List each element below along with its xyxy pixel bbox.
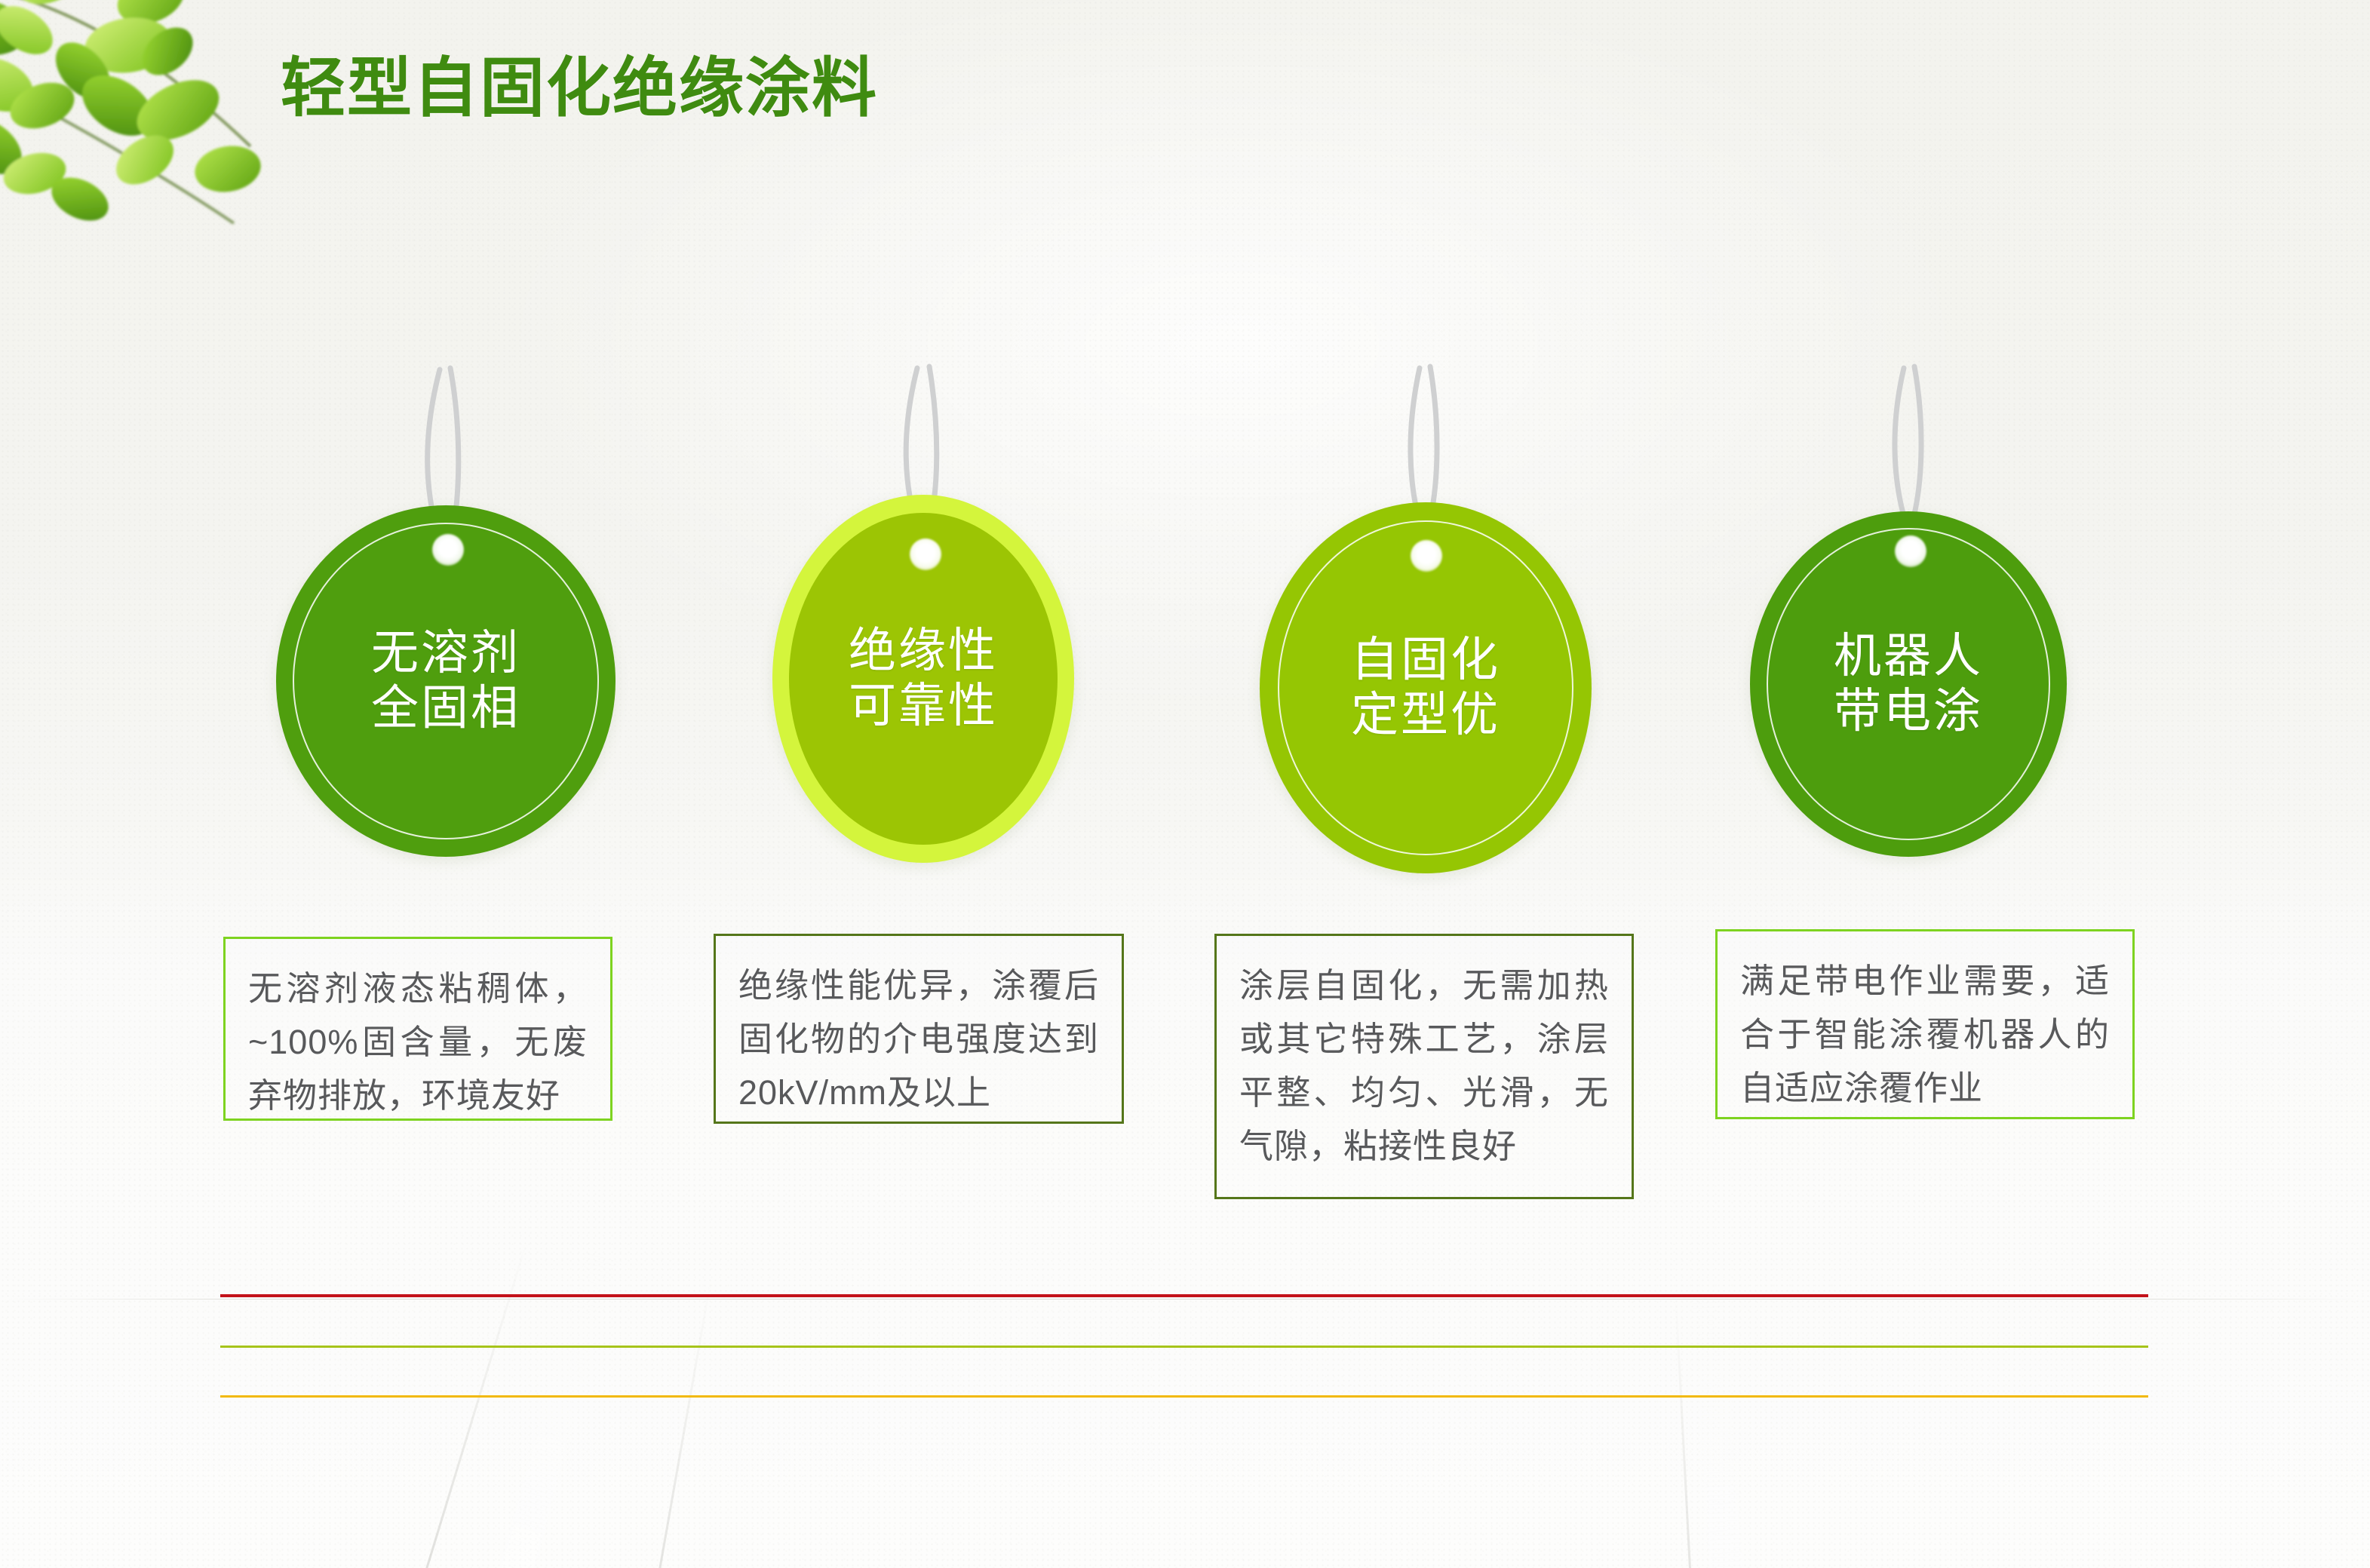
floor-shine-2	[179, 1250, 619, 1568]
tag-disc-2[interactable]: 绝缘性 可靠性	[772, 495, 1074, 863]
horizon-line	[0, 1299, 2370, 1300]
note-box-2: 绝缘性能优异，涂覆后固化物的介电强度达到20kV/mm及以上	[714, 934, 1124, 1124]
tag-label-3: 自固化 定型优	[1351, 633, 1500, 743]
note-box-1: 无溶剂液态粘稠体，~100%固含量，无废弃物排放，环境友好	[223, 937, 612, 1121]
tag-label-2: 绝缘性 可靠性	[849, 624, 998, 734]
tag-hole-2	[910, 539, 941, 570]
green-leaves-decoration	[0, 0, 272, 244]
tag-hole-1	[432, 534, 464, 566]
floor-line-2	[67, 1241, 528, 1568]
rule-red	[220, 1294, 2148, 1297]
note-box-3: 涂层自固化，无需加热或其它特殊工艺，涂层平整、均匀、光滑，无气隙，粘接性良好	[1214, 934, 1634, 1199]
tag-self-curing[interactable]: 自固化 定型优	[1260, 361, 1592, 873]
tag-disc-3[interactable]: 自固化 定型优	[1260, 502, 1592, 873]
tag-insulation[interactable]: 绝缘性 可靠性	[772, 361, 1074, 858]
tag-robot-live-coating[interactable]: 机器人 带电涂	[1750, 361, 2067, 858]
rule-yellow	[220, 1395, 2148, 1398]
tag-hole-4	[1895, 535, 1926, 567]
tag-disc-4[interactable]: 机器人 带电涂	[1750, 511, 2067, 857]
page-title: 轻型自固化绝缘涂料	[281, 56, 878, 121]
tag-disc-1[interactable]: 无溶剂 全固相	[276, 505, 616, 857]
tag-hole-3	[1411, 540, 1442, 572]
tag-solvent-free[interactable]: 无溶剂 全固相	[276, 361, 616, 858]
note-box-4: 满足带电作业需要，适合于智能涂覆机器人的自适应涂覆作业	[1715, 929, 2135, 1119]
slide-canvas: 轻型自固化绝缘涂料 无溶剂 全固相 无溶剂液态粘稠体，~100%固含量，无废弃物…	[0, 0, 2370, 1568]
floor-shine-3	[1690, 1294, 1834, 1568]
tag-label-4: 机器人 带电涂	[1834, 629, 1983, 739]
rule-green	[220, 1346, 2148, 1348]
tag-label-1: 无溶剂 全固相	[371, 626, 520, 736]
